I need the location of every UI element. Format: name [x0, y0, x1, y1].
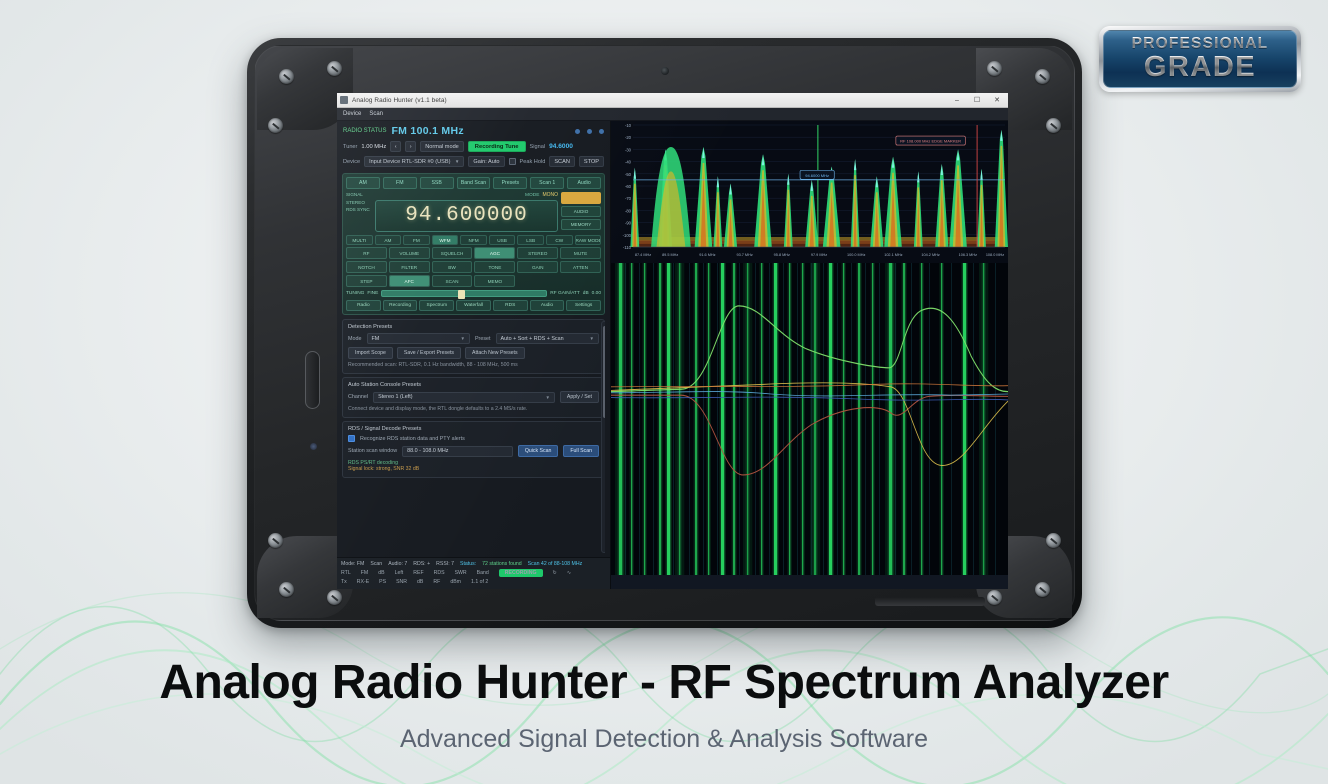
mod-rawmode[interactable]: RAW MODE: [575, 235, 602, 245]
status-audio: Audio: 7: [388, 561, 407, 567]
menu-item-scan[interactable]: Scan: [369, 111, 383, 117]
status2-rtl: RTL: [341, 570, 351, 576]
signal-label: Signal: [530, 144, 546, 150]
screw-tr-3: [1046, 118, 1061, 133]
rds-decode-title: RDS / Signal Decode Presets: [348, 426, 599, 432]
fn-volume[interactable]: VOLUME: [389, 247, 430, 259]
screw-tl-1: [279, 69, 294, 84]
frequency-display[interactable]: 94.600000: [375, 200, 558, 232]
quick-scan-button[interactable]: Quick Scan: [518, 445, 559, 457]
chevron-down-icon: ▼: [545, 395, 549, 400]
tuning-slider-row: TUNING FINE RF GAIN/ATT dB 0.00: [346, 290, 601, 297]
channel-label: Channel: [348, 394, 368, 400]
channel-select-value: Stereo 1 (Left): [378, 394, 412, 400]
radio-tab-ssb[interactable]: SSB: [420, 177, 454, 189]
indicator-rds-sync: RDS SYNC: [346, 207, 372, 213]
mod-wfm[interactable]: WFM: [432, 235, 459, 245]
radio-tab-fm[interactable]: FM: [383, 177, 417, 189]
tablet-bezel: Analog Radio Hunter (v1.1 beta) – ☐ ✕ De…: [254, 45, 1075, 621]
chevron-down-icon: ▼: [460, 336, 464, 341]
status-bar: Mode: FM Scan Audio: 7 RDS: + RSSI: 7 St…: [337, 557, 610, 589]
signal-lock-note: Signal lock: strong, SNR 32 dB: [348, 466, 599, 472]
hero-subtitle-text: Advanced Signal Detection & Analysis Sof…: [0, 725, 1328, 754]
stop-button[interactable]: STOP: [579, 156, 604, 167]
preset-select-value: Auto + Sort + RDS + Scan: [501, 336, 564, 342]
recording-tune-button[interactable]: Recording Tune: [468, 141, 526, 152]
foot-spectrum[interactable]: Spectrum: [419, 300, 454, 311]
svg-text:-20: -20: [625, 135, 632, 140]
screw-br-2: [987, 590, 1002, 605]
device-rate-note: Connect device and display mode, the RTL…: [348, 406, 599, 412]
professional-grade-badge: PROFESSIONAL GRADE: [1099, 26, 1301, 92]
step-up-button[interactable]: ›: [405, 141, 416, 152]
fn-rf[interactable]: RF: [346, 247, 387, 259]
fn-step[interactable]: STEP: [346, 275, 387, 287]
rf-gain-unit: dB: [583, 291, 589, 296]
svg-text:RF 108.000 MHz EDGE MARKER: RF 108.000 MHz EDGE MARKER: [900, 139, 961, 144]
wave-icon[interactable]: ∿: [567, 570, 571, 576]
status3-rxe: RX-E: [357, 579, 369, 585]
settings-scrollbar-thumb[interactable]: [603, 326, 605, 418]
svg-text:106.3 MHz: 106.3 MHz: [959, 253, 977, 257]
hero-subtitle: Advanced Signal Detection & Analysis Sof…: [0, 725, 1328, 754]
scan-window-input[interactable]: 88.0 - 108.0 MHz: [402, 446, 513, 457]
svg-text:-80: -80: [625, 208, 632, 213]
mod-nfm[interactable]: NFM: [460, 235, 487, 245]
status2-swr: SWR: [455, 570, 467, 576]
signal-strength-bar: [561, 192, 601, 204]
status2-db: dB: [378, 570, 384, 576]
indicator-stereo: STEREO: [346, 200, 372, 206]
hero-title-text: Analog Radio Hunter - RF Spectrum Analyz…: [0, 655, 1328, 710]
application-window: Analog Radio Hunter (v1.1 beta) – ☐ ✕ De…: [337, 93, 1008, 589]
status-row-2: RTL FM dB Left REF RDS SWR Band RECORDIN…: [341, 568, 606, 578]
status-label: Status:: [460, 561, 476, 567]
svg-text:-90: -90: [625, 221, 632, 226]
svg-text:91.6 MHz: 91.6 MHz: [699, 253, 715, 257]
fn-notch[interactable]: NOTCH: [346, 261, 387, 273]
foot-rds[interactable]: RDS: [493, 300, 528, 311]
maximize-button[interactable]: ☐: [969, 93, 985, 107]
waterfall-display[interactable]: [611, 263, 1008, 575]
mod-fm[interactable]: FM: [403, 235, 430, 245]
svg-text:87.4 MHz: 87.4 MHz: [635, 253, 651, 257]
scan-window-label: Station scan window: [348, 448, 397, 454]
preset-select[interactable]: Auto + Sort + RDS + Scan ▼: [496, 333, 599, 344]
step-down-button[interactable]: ‹: [390, 141, 401, 152]
badge-line-2: GRADE: [1144, 52, 1256, 82]
close-button[interactable]: ✕: [989, 93, 1005, 107]
device-label: Device: [343, 159, 360, 165]
power-button[interactable]: [305, 351, 320, 409]
status3-db: dB: [417, 579, 423, 585]
tuning-slider-label: TUNING: [346, 291, 364, 296]
scan-button[interactable]: SCAN: [549, 156, 575, 167]
screw-tr-1: [1035, 69, 1050, 84]
indicator-signal: SIGNAL: [346, 192, 372, 198]
chevron-down-icon: ▼: [455, 159, 459, 164]
scan-window-value: 88.0 - 108.0 MHz: [407, 448, 448, 454]
fn-tone[interactable]: TONE: [474, 261, 515, 273]
status-dot-2: [587, 129, 592, 134]
radio-status-line: RADIO STATUS FM 100.1 MHz: [337, 121, 610, 139]
tuner-value: 1.00 MHz: [361, 144, 386, 150]
full-scan-button[interactable]: Full Scan: [563, 445, 599, 457]
status-dot-1: [575, 129, 580, 134]
radio-mode-tabs[interactable]: AM FM SSB Band Scan Presets Scan 1 Audio: [346, 177, 601, 189]
normal-mode-button[interactable]: Normal mode: [420, 141, 464, 152]
svg-text:93.7 MHz: 93.7 MHz: [736, 253, 752, 257]
refresh-icon[interactable]: ↻: [553, 570, 557, 576]
rf-gain-label: RF GAIN/ATT: [550, 291, 580, 296]
attach-new-presets-button[interactable]: Attach New Presets: [465, 347, 525, 359]
svg-text:108.0 MHz: 108.0 MHz: [986, 253, 1004, 257]
apply-set-button[interactable]: Apply / Set: [560, 391, 599, 403]
window-titlebar[interactable]: Analog Radio Hunter (v1.1 beta) – ☐ ✕: [337, 93, 1008, 108]
radio-tab-am[interactable]: AM: [346, 177, 380, 189]
status3-ps: PS: [379, 579, 386, 585]
mode-select[interactable]: FM ▼: [367, 333, 470, 344]
app-icon: [340, 96, 348, 104]
fn-atten[interactable]: ATTEN: [560, 261, 601, 273]
fn-bw[interactable]: BW: [432, 261, 473, 273]
status3-rf: RF: [433, 579, 440, 585]
menu-bar[interactable]: Device Scan: [337, 108, 1008, 121]
screw-br-1: [1035, 582, 1050, 597]
mode-meta-label: MODE: [525, 193, 539, 198]
radio-footer-tabs[interactable]: Radio Recording Spectrum Waterfall RDS A…: [346, 300, 601, 311]
foot-radio[interactable]: Radio: [346, 300, 381, 311]
tablet-screen: Analog Radio Hunter (v1.1 beta) – ☐ ✕ De…: [337, 93, 1008, 589]
foot-waterfall[interactable]: Waterfall: [456, 300, 491, 311]
radio-side-indicators: SIGNAL STEREO RDS SYNC: [346, 192, 372, 232]
screw-bl-2: [327, 590, 342, 605]
status-indicators: [575, 129, 604, 134]
svg-text:94.6000 MHz: 94.6000 MHz: [805, 173, 829, 178]
status3-page: 1.1 of 2: [471, 579, 488, 585]
svg-text:104.2 MHz: 104.2 MHz: [921, 253, 939, 257]
rds-enable-label: Recognize RDS station data and PTY alert…: [360, 436, 465, 442]
signal-value: 94.6000: [549, 143, 573, 150]
menu-item-device[interactable]: Device: [343, 111, 361, 117]
radio-function-grid[interactable]: RF VOLUME SQUELCH AGC STEREO MUTE NOTCH …: [346, 247, 601, 287]
fn-mute[interactable]: MUTE: [560, 247, 601, 259]
status2-ref: REF: [413, 570, 423, 576]
status2-rds: RDS: [434, 570, 445, 576]
status-stations-found: 72 stations found: [482, 561, 522, 567]
status-rssi: RSSI: 7: [436, 561, 454, 567]
screw-tl-3: [268, 118, 283, 133]
minimize-button[interactable]: –: [949, 93, 965, 107]
radio-tab-bandscan[interactable]: Band Scan: [457, 177, 491, 189]
preset-label: Preset: [475, 336, 491, 342]
status-led: [310, 443, 317, 450]
radio-status-label: RADIO STATUS: [343, 128, 386, 134]
svg-text:89.5 MHz: 89.5 MHz: [662, 253, 678, 257]
import-scope-button[interactable]: Import Scope: [348, 347, 393, 359]
channel-select[interactable]: Stereo 1 (Left) ▼: [373, 392, 555, 403]
waterfall-footer: [611, 575, 1008, 589]
fn-squelch[interactable]: SQUELCH: [432, 247, 473, 259]
mode-label: Mode: [348, 336, 362, 342]
auto-station-console-group: Auto Station Console Presets Channel Ste…: [342, 377, 605, 418]
radio-tab-presets[interactable]: Presets: [493, 177, 527, 189]
status-mode: Mode: FM: [341, 561, 364, 567]
status-row-3: Tx RX-E PS SNR dB RF dBm 1.1 of 2: [341, 578, 606, 586]
detection-presets-group: Detection Presets Mode FM ▼ Preset: [342, 319, 605, 374]
status2-left: Left: [395, 570, 404, 576]
svg-text:97.9 MHz: 97.9 MHz: [811, 253, 827, 257]
svg-text:100.0 MHz: 100.0 MHz: [847, 253, 865, 257]
mod-am[interactable]: AM: [375, 235, 402, 245]
svg-text:-30: -30: [625, 147, 632, 152]
screw-tl-2: [327, 61, 342, 76]
status3-snr: SNR: [396, 579, 407, 585]
svg-text:-10: -10: [625, 123, 632, 128]
foot-recording[interactable]: Recording: [383, 300, 418, 311]
spectrum-chart[interactable]: -10-20-30-40-50-60-70-80-90-100-11094.60…: [611, 121, 1008, 263]
mode-select-value: FM: [372, 336, 380, 342]
status-scan-progress: Scan 42 of 88-108 MHz: [528, 561, 583, 567]
fn-filter[interactable]: FILTER: [389, 261, 430, 273]
mod-usb[interactable]: USB: [489, 235, 516, 245]
status3-dbm: dBm: [450, 579, 461, 585]
window-title: Analog Radio Hunter (v1.1 beta): [352, 97, 447, 104]
auto-station-title: Auto Station Console Presets: [348, 382, 599, 388]
memory-button[interactable]: MEMORY: [561, 219, 601, 230]
foot-settings[interactable]: Settings: [566, 300, 601, 311]
fn-afc[interactable]: AFC: [389, 275, 430, 287]
svg-text:-60: -60: [625, 184, 632, 189]
rds-enable-checkbox[interactable]: [348, 435, 355, 442]
save-export-presets-button[interactable]: Save / Export Presets: [397, 347, 461, 359]
control-panel: RADIO STATUS FM 100.1 MHz Tuner 1.00 MHz: [337, 121, 611, 589]
rugged-tablet: Analog Radio Hunter (v1.1 beta) – ☐ ✕ De…: [247, 38, 1082, 628]
audio-button[interactable]: AUDIO: [561, 206, 601, 217]
settings-area: Detection Presets Mode FM ▼ Preset: [342, 319, 605, 557]
status-dot-3: [599, 129, 604, 134]
svg-text:-100: -100: [623, 233, 632, 238]
recording-badge: RECORDING: [499, 569, 543, 577]
screw-bl-1: [279, 582, 294, 597]
fn-gain[interactable]: GAIN: [517, 261, 558, 273]
screw-tr-2: [987, 61, 1002, 76]
screw-bl-3: [268, 533, 283, 548]
mod-lsb[interactable]: LSB: [517, 235, 544, 245]
mod-cw[interactable]: CW: [546, 235, 573, 245]
badge-line-1: PROFESSIONAL: [1132, 36, 1269, 52]
modulation-strip[interactable]: MULTI AM FM WFM NFM USB LSB CW RAW MODE: [346, 235, 601, 245]
gain-value[interactable]: Gain: Auto: [468, 156, 504, 167]
peak-hold-label: Peak Hold: [520, 159, 546, 165]
fn-memo[interactable]: MEMO: [474, 275, 515, 287]
status2-band: Band: [477, 570, 489, 576]
peak-hold-checkbox[interactable]: [509, 158, 516, 165]
status2-fm: FM: [361, 570, 369, 576]
screw-br-3: [1046, 533, 1061, 548]
svg-text:-40: -40: [625, 160, 632, 165]
fn-scan[interactable]: SCAN: [432, 275, 473, 287]
svg-text:-70: -70: [625, 196, 632, 201]
tuning-slider[interactable]: [381, 290, 547, 297]
radio-status-value: FM 100.1 MHz: [391, 125, 463, 137]
scan-recommendation-note: Recommended scan: RTL-SDR, 0.1 Hz bandwi…: [348, 362, 599, 368]
chevron-down-icon: ▼: [590, 336, 594, 341]
rf-gain-value: 0.00: [592, 291, 601, 296]
device-row: Device Input Device RTL-SDR #0 (USB) ▼ G…: [337, 154, 610, 169]
mod-multi[interactable]: MULTI: [346, 235, 373, 245]
radio-tab-scan1[interactable]: Scan 1: [530, 177, 564, 189]
fn-agc[interactable]: AGC: [474, 247, 515, 259]
status-scan: Scan: [370, 561, 382, 567]
detection-presets-title: Detection Presets: [348, 324, 599, 330]
device-select-value: Input Device RTL-SDR #0 (USB): [369, 159, 450, 165]
status3-tx: Tx: [341, 579, 347, 585]
status-row-1: Mode: FM Scan Audio: 7 RDS: + RSSI: 7 St…: [341, 560, 606, 568]
tuning-slider-knob[interactable]: [458, 290, 465, 299]
tuner-label: Tuner: [343, 144, 357, 150]
mode-meta-value: MONO: [542, 192, 558, 198]
foot-audio[interactable]: Audio: [530, 300, 565, 311]
tuner-row: Tuner 1.00 MHz ‹ › Normal mode Recording…: [337, 139, 610, 154]
svg-text:-50: -50: [625, 172, 632, 177]
display-area: -10-20-30-40-50-60-70-80-90-100-11094.60…: [611, 121, 1008, 589]
radio-control-panel: AM FM SSB Band Scan Presets Scan 1 Audio: [342, 173, 605, 315]
settings-scrollbar-track[interactable]: [601, 321, 605, 553]
radio-tab-audio[interactable]: Audio: [567, 177, 601, 189]
svg-text:95.8 MHz: 95.8 MHz: [774, 253, 790, 257]
tuning-slider-sub: FINE: [367, 291, 378, 296]
hero-title: Analog Radio Hunter - RF Spectrum Analyz…: [0, 655, 1328, 710]
svg-text:102.1 MHz: 102.1 MHz: [884, 253, 902, 257]
device-select[interactable]: Input Device RTL-SDR #0 (USB) ▼: [364, 156, 464, 167]
status-rds: RDS: +: [413, 561, 430, 567]
rds-decode-group: RDS / Signal Decode Presets Recognize RD…: [342, 421, 605, 478]
svg-text:-110: -110: [623, 245, 632, 250]
dock-connector: [875, 597, 985, 606]
front-camera: [661, 67, 669, 75]
fn-stereo[interactable]: STEREO: [517, 247, 558, 259]
